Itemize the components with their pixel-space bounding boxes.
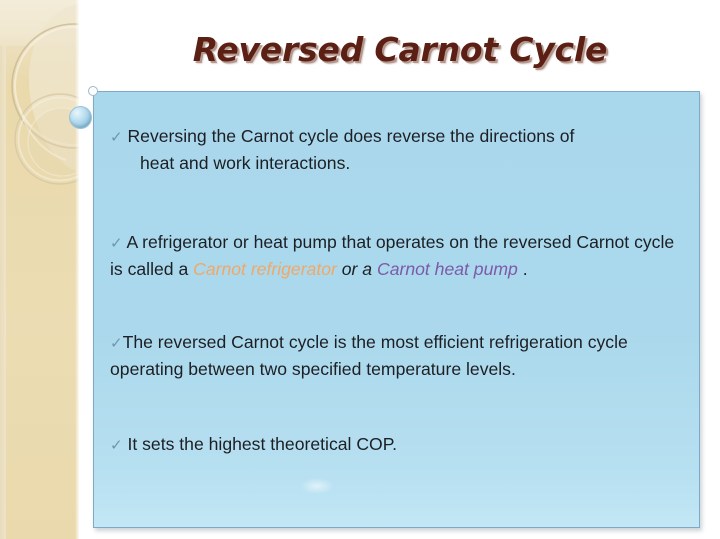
bullet-3-text: The reversed Carnot cycle is the most ef… bbox=[110, 332, 628, 379]
background-smudge bbox=[300, 478, 334, 494]
sidebar-right-edge-highlight bbox=[75, 0, 79, 539]
bullet-item-1: ✓ Reversing the Carnot cycle does revers… bbox=[108, 124, 691, 176]
bullet-item-3: ✓The reversed Carnot cycle is the most e… bbox=[108, 330, 691, 382]
bullet-4-text: It sets the highest theoretical COP. bbox=[127, 434, 397, 454]
bullet-2-segment-3: or a bbox=[342, 259, 377, 279]
bullet-1-line-1: Reversing the Carnot cycle does reverse … bbox=[127, 126, 574, 146]
check-icon: ✓ bbox=[110, 437, 123, 454]
bullet-2-segment-5: . bbox=[523, 259, 528, 279]
content-body-box: ✓ Reversing the Carnot cycle does revers… bbox=[93, 91, 700, 528]
bullet-2-term-carnot-heat-pump: Carnot heat pump bbox=[377, 259, 518, 279]
bullet-1-line-2: heat and work interactions. bbox=[110, 151, 691, 177]
page-title: Reversed Carnot Cycle bbox=[120, 30, 680, 69]
decorative-bubble-icon bbox=[69, 106, 92, 129]
sidebar-circles-decoration bbox=[0, 0, 79, 539]
check-icon: ✓ bbox=[110, 335, 123, 352]
bullet-2-term-carnot-refrigerator: Carnot refrigerator bbox=[193, 259, 337, 279]
bullet-item-4: ✓ It sets the highest theoretical COP. bbox=[108, 432, 691, 459]
check-icon: ✓ bbox=[110, 129, 123, 146]
slide-canvas: Reversed Carnot Cycle ✓ Reversing the Ca… bbox=[0, 0, 720, 539]
decorative-sidebar-band bbox=[0, 0, 79, 539]
bullet-item-2: ✓ A refrigerator or heat pump that opera… bbox=[108, 230, 691, 282]
box-corner-handle-dot bbox=[88, 86, 98, 96]
check-icon: ✓ bbox=[110, 235, 123, 252]
